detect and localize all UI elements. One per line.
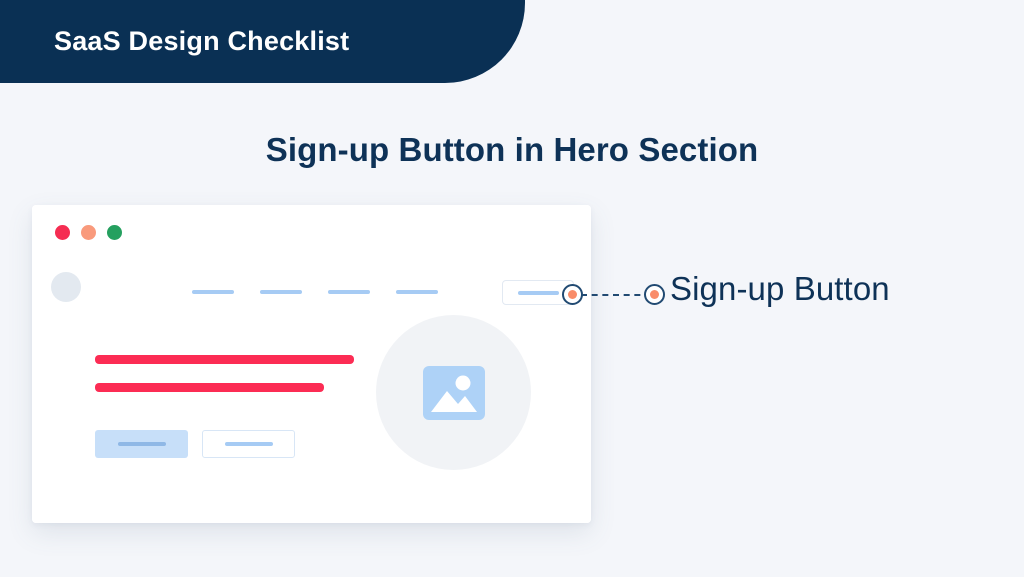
hero-secondary-cta[interactable]	[202, 430, 295, 458]
annotation-marker-core	[650, 290, 659, 299]
signup-button-label-bar	[518, 291, 559, 295]
close-dot-icon[interactable]	[55, 225, 70, 240]
window-controls	[55, 225, 122, 240]
page-title: Sign-up Button in Hero Section	[0, 131, 1024, 169]
banner-title: SaaS Design Checklist	[54, 26, 349, 57]
hero-headline-line-1	[95, 355, 354, 364]
site-logo-placeholder[interactable]	[51, 272, 81, 302]
hero-primary-cta-label-bar	[118, 442, 166, 446]
hero-secondary-cta-label-bar	[225, 442, 273, 446]
website-viewport	[32, 258, 591, 523]
annotation-marker-core	[568, 290, 577, 299]
nav-link-1[interactable]	[192, 290, 234, 294]
browser-window-mockup	[32, 205, 591, 523]
annotation-label: Sign-up Button	[670, 270, 890, 308]
browser-title-bar	[32, 205, 591, 259]
nav-link-3[interactable]	[328, 290, 370, 294]
hero-headline-line-2	[95, 383, 324, 392]
minimize-dot-icon[interactable]	[81, 225, 96, 240]
annotation-marker-target	[644, 284, 665, 305]
image-icon	[423, 366, 485, 420]
nav-link-4[interactable]	[396, 290, 438, 294]
annotation-connector-line	[581, 294, 651, 296]
maximize-dot-icon[interactable]	[107, 225, 122, 240]
header-banner: SaaS Design Checklist	[0, 0, 525, 83]
nav-link-2[interactable]	[260, 290, 302, 294]
hero-primary-cta[interactable]	[95, 430, 188, 458]
hero-image-placeholder	[376, 315, 531, 470]
annotation-marker-source	[562, 284, 583, 305]
